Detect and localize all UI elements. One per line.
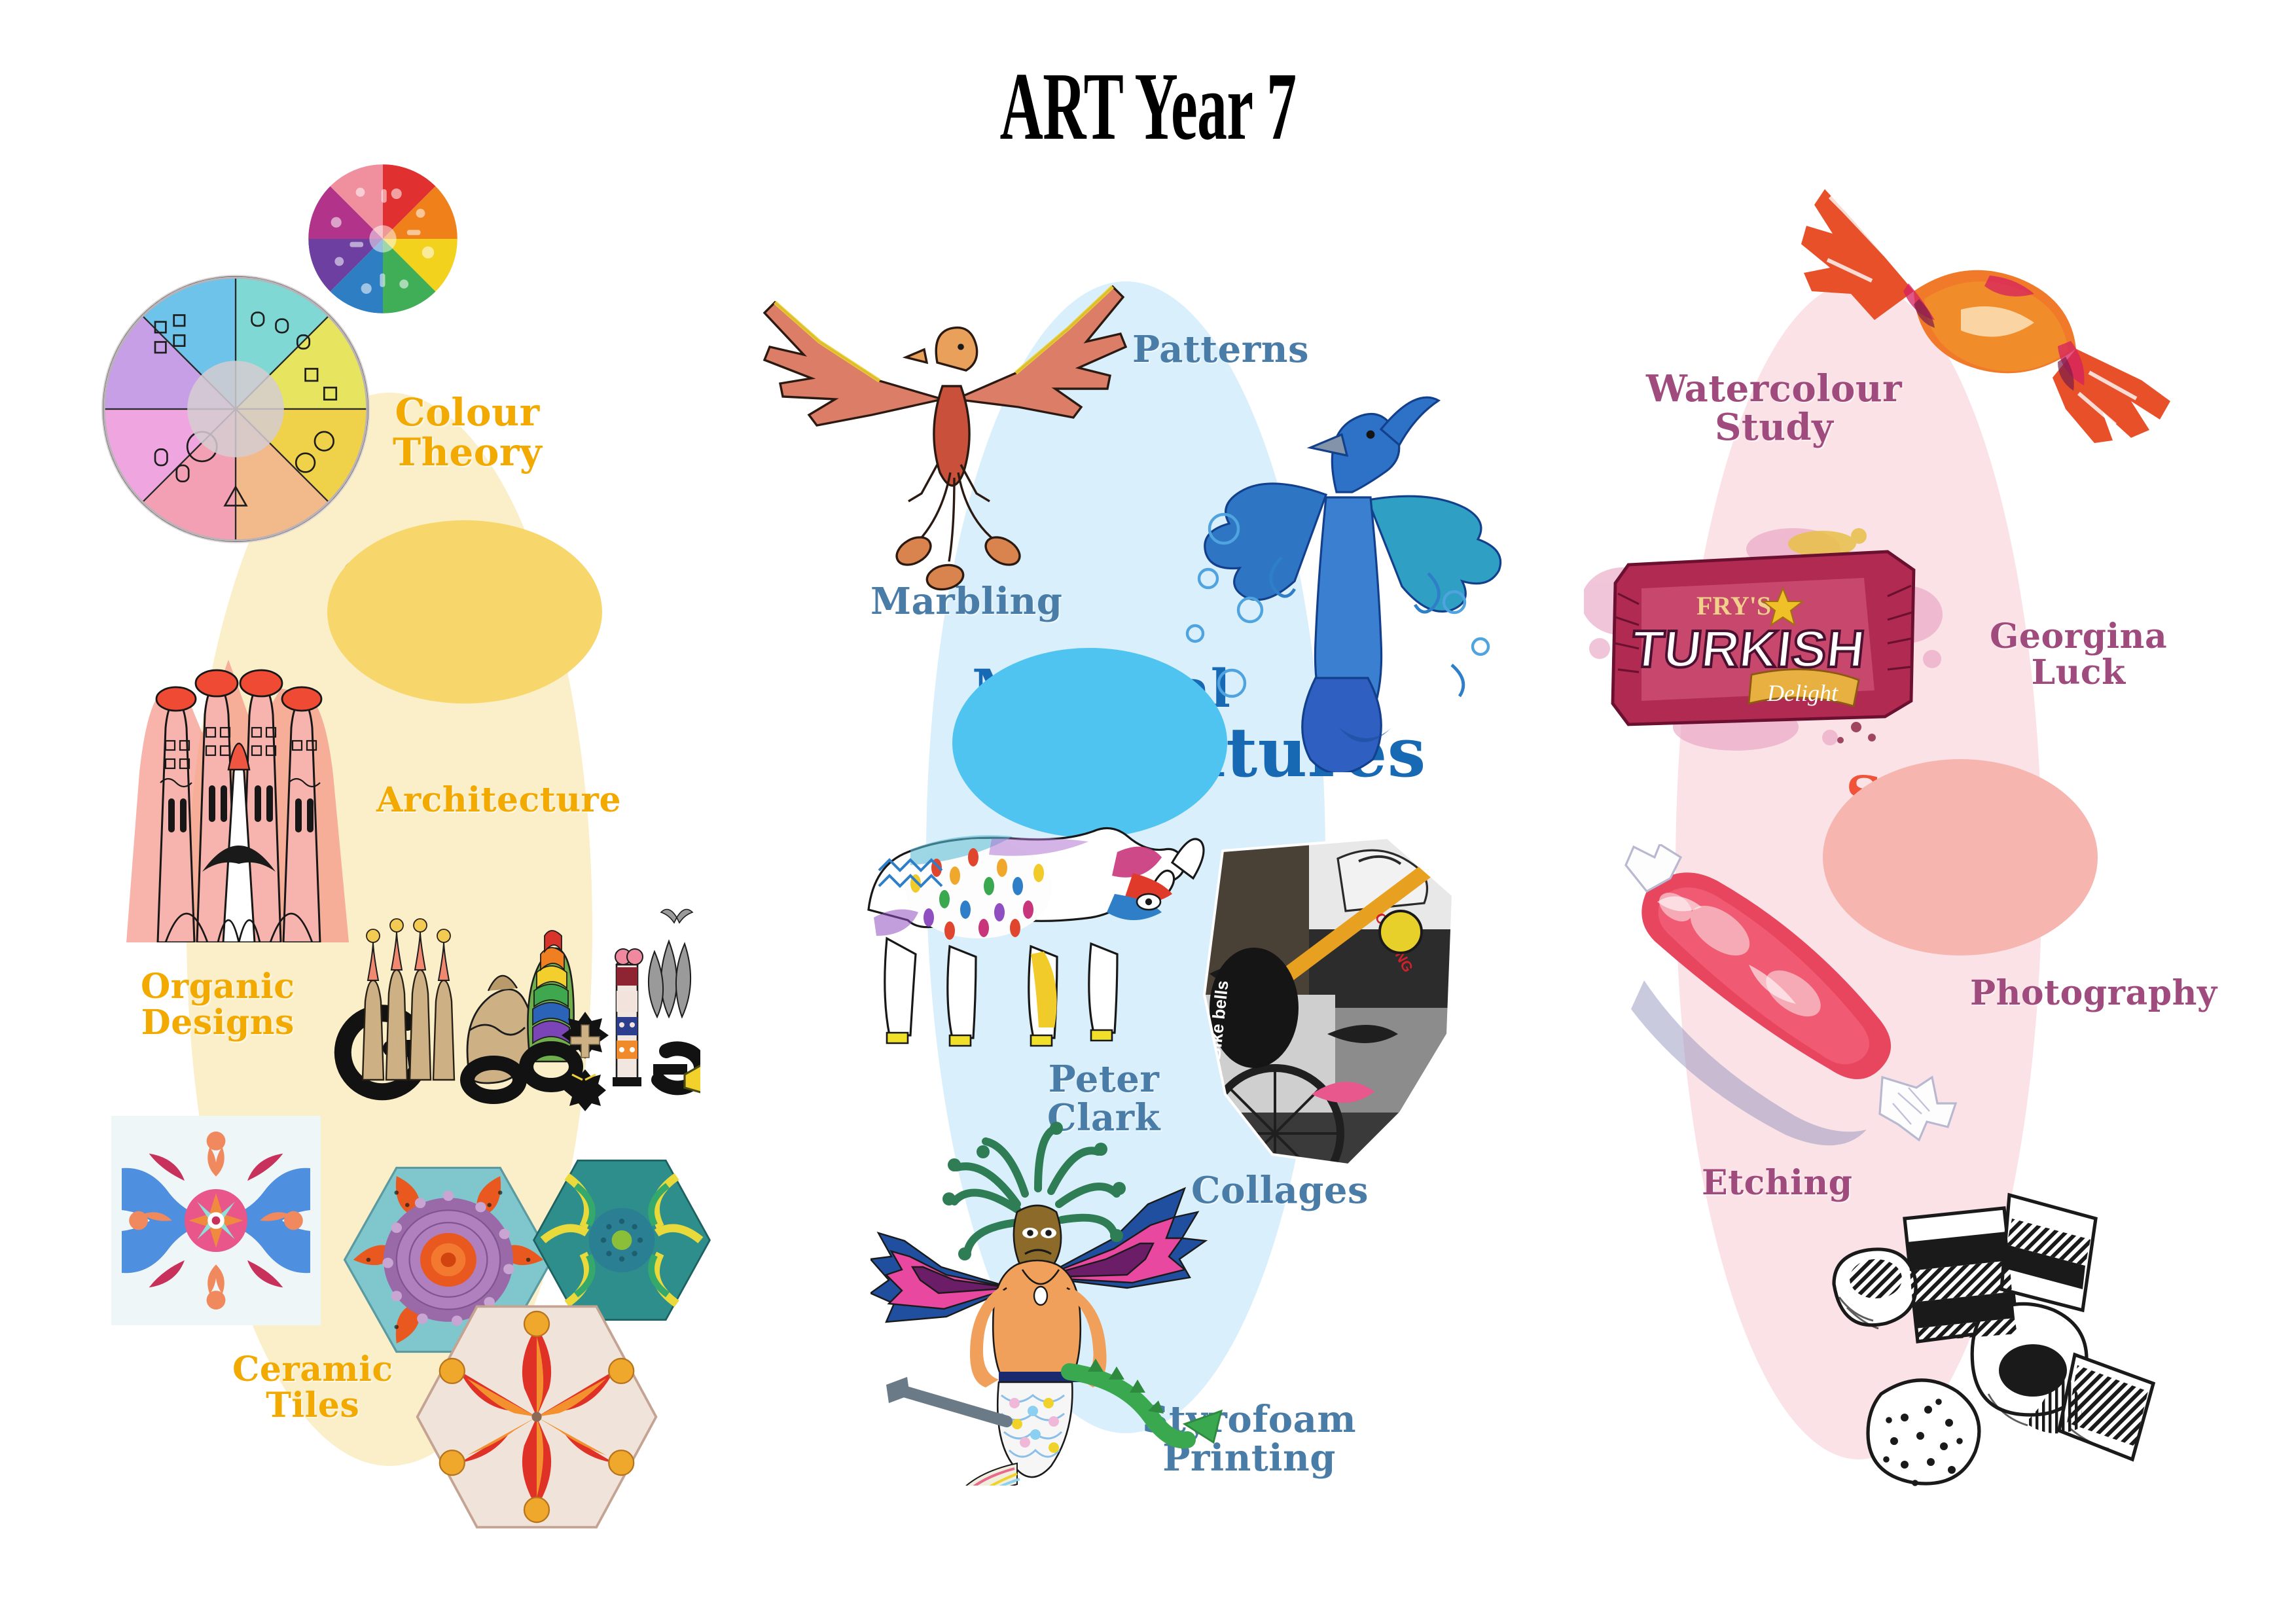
pink-sweet-roll-watercolour-artwork: [1623, 844, 1977, 1171]
label-organic-designs: Organic Designs: [141, 969, 295, 1041]
label-architecture: Architecture: [376, 782, 621, 818]
phoenix-bird-drawing-artwork: [759, 216, 1139, 609]
colour-wheel-buildings-artwork: [101, 275, 370, 543]
gaudi-google-doodle-artwork: [334, 870, 700, 1132]
label-photography: Photography: [1970, 975, 2217, 1011]
symmetry-tile-drawing-artwork: [111, 1116, 321, 1325]
patterned-rhino-drawing-artwork: [834, 792, 1227, 1067]
label-georgina-luck: Georgina Luck: [1990, 618, 2167, 690]
label-ceramic-tiles: Ceramic Tiles: [232, 1351, 393, 1423]
turkish-name-text: TURKISH: [1629, 619, 1868, 678]
turkish-brand-text: FRY'S: [1696, 591, 1771, 620]
medusa-mermaid-drawing-artwork: [870, 1113, 1237, 1486]
page-title: ART Year 7: [437, 51, 1860, 162]
bead-colour-wheel-artwork: [308, 164, 458, 314]
sagrada-familia-watercolour-artwork: [108, 576, 370, 942]
blue-water-bird-drawing-artwork: [1172, 353, 1512, 772]
label-colour-theory: Colour Theory: [393, 393, 542, 473]
hexagon-ceramic-tile-flower-artwork: [412, 1299, 661, 1535]
wrapped-sweet-watercolour-artwork: [1793, 173, 2173, 448]
turkish-sub-text: Delight: [1767, 680, 1839, 706]
liquorice-allsorts-etching-artwork: [1813, 1171, 2219, 1512]
turkish-delight-watercolour-artwork: FRY'S TURKISH Delight: [1584, 507, 1950, 756]
